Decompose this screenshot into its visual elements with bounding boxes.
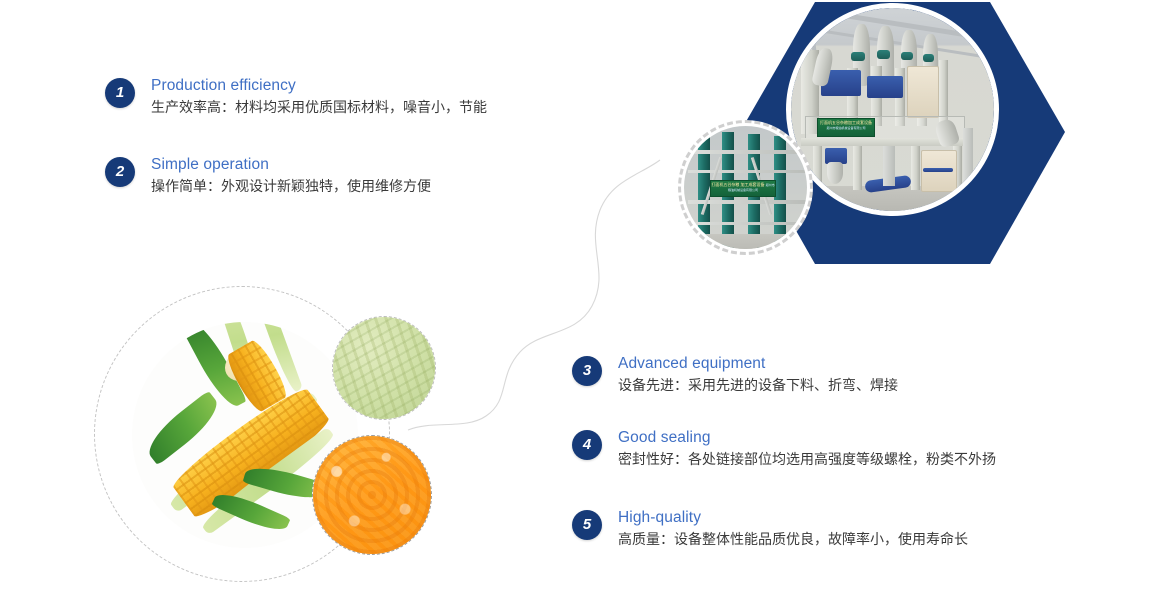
photo-banner-line1: 打面机五谷杂粮加工成套设备 xyxy=(820,120,872,125)
feature-item-2[interactable]: 2 Simple operation 操作简单：外观设计新颖独特，使用维修方便 xyxy=(105,155,431,197)
feature-badge-4: 4 xyxy=(572,430,602,460)
sub-photo-banner-line1: 打面机五谷杂粮 加工成套设备 xyxy=(711,182,764,187)
feature-title-5: High-quality xyxy=(618,508,968,527)
sub-plant-photo: 打面机五谷杂粮 加工成套设备 郑州市粮油机械设备有限公司 xyxy=(678,120,813,255)
sub-photo-banner: 打面机五谷杂粮 加工成套设备 郑州市粮油机械设备有限公司 xyxy=(710,180,776,197)
feature-item-3[interactable]: 3 Advanced equipment 设备先进：采用先进的设备下料、折弯、焊… xyxy=(572,354,898,396)
corn-paste-photo xyxy=(332,316,436,420)
feature-text-5: High-quality 高质量：设备整体性能品质优良，故障率小，使用寿命长 xyxy=(618,508,968,550)
feature-title-2: Simple operation xyxy=(151,155,431,174)
feature-desc-1: 生产效率高：材料均采用优质国标材料，噪音小，节能 xyxy=(151,96,487,118)
photo-banner: 打面机五谷杂粮加工成套设备 郑州市粮油机械设备有限公司 xyxy=(817,118,875,137)
corn-kernels-photo xyxy=(312,435,432,555)
feature-title-1: Production efficiency xyxy=(151,76,487,95)
feature-text-2: Simple operation 操作简单：外观设计新颖独特，使用维修方便 xyxy=(151,155,431,197)
feature-text-1: Production efficiency 生产效率高：材料均采用优质国标材料，… xyxy=(151,76,487,118)
main-plant-photo: 打面机五谷杂粮加工成套设备 郑州市粮油机械设备有限公司 xyxy=(786,3,999,216)
feature-item-5[interactable]: 5 High-quality 高质量：设备整体性能品质优良，故障率小，使用寿命长 xyxy=(572,508,968,550)
infographic-page: 打面机五谷杂粮加工成套设备 郑州市粮油机械设备有限公司 xyxy=(0,0,1154,591)
feature-desc-5: 高质量：设备整体性能品质优良，故障率小，使用寿命长 xyxy=(618,528,968,550)
feature-title-4: Good sealing xyxy=(618,428,996,447)
feature-item-1[interactable]: 1 Production efficiency 生产效率高：材料均采用优质国标材… xyxy=(105,76,487,118)
feature-item-4[interactable]: 4 Good sealing 密封性好：各处链接部位均选用高强度等级螺栓，粉类不… xyxy=(572,428,996,470)
feature-desc-4: 密封性好：各处链接部位均选用高强度等级螺栓，粉类不外扬 xyxy=(618,448,996,470)
feature-text-4: Good sealing 密封性好：各处链接部位均选用高强度等级螺栓，粉类不外扬 xyxy=(618,428,996,470)
corn-photo-cluster xyxy=(90,280,470,591)
feature-desc-2: 操作简单：外观设计新颖独特，使用维修方便 xyxy=(151,175,431,197)
feature-badge-2: 2 xyxy=(105,157,135,187)
feature-badge-5: 5 xyxy=(572,510,602,540)
feature-badge-1: 1 xyxy=(105,78,135,108)
feature-text-3: Advanced equipment 设备先进：采用先进的设备下料、折弯、焊接 xyxy=(618,354,898,396)
hexagon-photo-cluster: 打面机五谷杂粮加工成套设备 郑州市粮油机械设备有限公司 xyxy=(660,0,1154,280)
feature-title-3: Advanced equipment xyxy=(618,354,898,373)
photo-banner-line2: 郑州市粮油机械设备有限公司 xyxy=(826,126,865,130)
feature-badge-3: 3 xyxy=(572,356,602,386)
feature-desc-3: 设备先进：采用先进的设备下料、折弯、焊接 xyxy=(618,374,898,396)
